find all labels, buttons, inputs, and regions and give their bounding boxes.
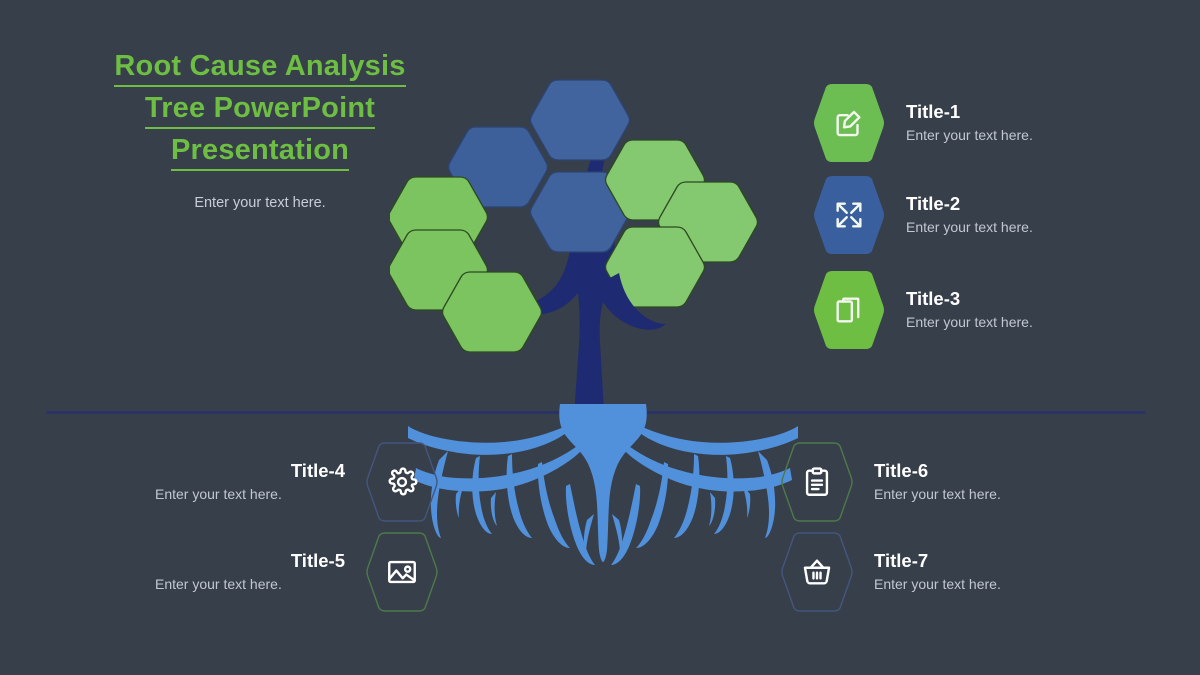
crown-hex-blue-top [531, 80, 630, 160]
image-icon [385, 555, 419, 589]
item-4-desc: Enter your text here. [155, 485, 345, 504]
page-title-line-3: Presentation [171, 132, 349, 171]
item-2-hex[interactable] [812, 174, 886, 256]
item-3-hex[interactable] [812, 269, 886, 351]
item-3-desc: Enter your text here. [906, 313, 1096, 332]
page-title-line-2: Tree PowerPoint [145, 90, 375, 129]
item-6-desc: Enter your text here. [874, 485, 1064, 504]
crown-green-right-cluster [606, 140, 758, 307]
item-1-title: Title-1 [906, 101, 1096, 123]
item-3-title: Title-3 [906, 288, 1096, 310]
item-6-hex[interactable] [780, 441, 854, 523]
item-title-4[interactable]: Title-4 Enter your text here. [155, 441, 439, 523]
edit-square-icon [832, 106, 866, 140]
item-2-desc: Enter your text here. [906, 218, 1096, 237]
item-title-3[interactable]: Title-3 Enter your text here. [812, 269, 1096, 351]
item-7-desc: Enter your text here. [874, 575, 1064, 594]
item-6-title: Title-6 [874, 460, 1064, 482]
item-5-title: Title-5 [155, 550, 345, 572]
item-4-title: Title-4 [155, 460, 345, 482]
item-3-text: Title-3 Enter your text here. [906, 288, 1096, 332]
item-5-hex[interactable] [365, 531, 439, 613]
expand-arrows-icon [832, 198, 866, 232]
item-7-title: Title-7 [874, 550, 1064, 572]
item-5-desc: Enter your text here. [155, 575, 345, 594]
item-title-7[interactable]: Title-7 Enter your text here. [780, 531, 1064, 613]
basket-icon [800, 555, 834, 589]
clipboard-icon [800, 465, 834, 499]
page-title-line-1: Root Cause Analysis [114, 48, 405, 87]
item-7-hex[interactable] [780, 531, 854, 613]
slide-canvas: Root Cause Analysis Tree PowerPoint Pres… [0, 0, 1200, 675]
item-6-text: Title-6 Enter your text here. [874, 460, 1064, 504]
item-title-6[interactable]: Title-6 Enter your text here. [780, 441, 1064, 523]
crown-hex-green-l3 [443, 272, 542, 352]
tree-roots-graphic [408, 404, 798, 614]
item-7-text: Title-7 Enter your text here. [874, 550, 1064, 594]
item-title-2[interactable]: Title-2 Enter your text here. [812, 174, 1096, 256]
gear-icon [385, 465, 419, 499]
item-1-desc: Enter your text here. [906, 126, 1096, 145]
item-title-1[interactable]: Title-1 Enter your text here. [812, 82, 1096, 164]
item-1-text: Title-1 Enter your text here. [906, 101, 1096, 145]
item-5-text: Title-5 Enter your text here. [155, 550, 345, 594]
copy-duplicate-icon [832, 293, 866, 327]
item-2-text: Title-2 Enter your text here. [906, 193, 1096, 237]
item-2-title: Title-2 [906, 193, 1096, 215]
tree-crown-graphic [390, 70, 810, 440]
item-1-hex[interactable] [812, 82, 886, 164]
item-4-hex[interactable] [365, 441, 439, 523]
item-4-text: Title-4 Enter your text here. [155, 460, 345, 504]
item-title-5[interactable]: Title-5 Enter your text here. [155, 531, 439, 613]
